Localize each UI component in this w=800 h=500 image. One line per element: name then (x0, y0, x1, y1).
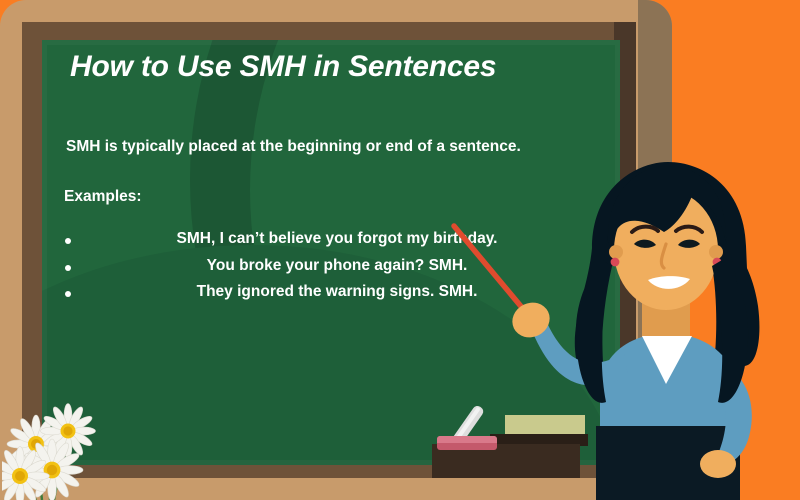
infographic-canvas: How to Use SMH in Sentences SMH is typic… (0, 0, 800, 500)
page-title: How to Use SMH in Sentences (70, 50, 610, 84)
lead-sentence: SMH is typically placed at the beginning… (66, 138, 521, 156)
ear-right (709, 245, 723, 259)
daisy-flowers (2, 386, 122, 500)
bullet-dot-icon (65, 265, 71, 271)
bullet-dot-icon (65, 291, 71, 297)
eraser-highlight (437, 436, 497, 443)
earring-left (611, 258, 620, 267)
teacher-illustration (496, 140, 800, 500)
hand-on-hip (700, 450, 736, 478)
bullet-dot-icon (65, 238, 71, 244)
examples-label: Examples: (64, 188, 142, 206)
ear-left (609, 245, 623, 259)
